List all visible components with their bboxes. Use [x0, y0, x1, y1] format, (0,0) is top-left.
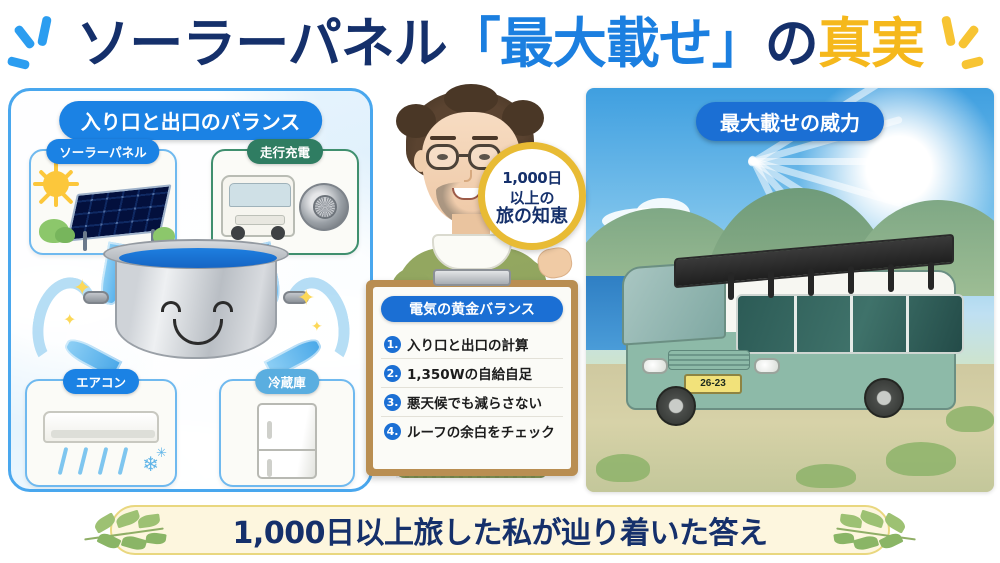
content-stage: 入り口と出口のバランス ソーラーパネル 走行充電	[0, 86, 1000, 498]
checklist-number: 3.	[384, 394, 401, 411]
card-solar-panel-label: ソーラーパネル	[46, 139, 159, 164]
page-title: ソーラーパネル「最大載せ」の真実	[76, 17, 923, 71]
clipboard-clamp-icon	[433, 269, 511, 286]
snowflake-icon: ✳	[156, 446, 167, 459]
checklist-number: 2.	[384, 365, 401, 382]
card-refrigerator[interactable]: 冷蔵庫	[219, 379, 355, 487]
title-bar: ソーラーパネル「最大載せ」の真実	[0, 0, 1000, 88]
checklist-item: 4. ルーフの余白をチェック	[381, 417, 563, 445]
card-driving-charge-label: 走行充電	[247, 139, 323, 164]
sparkle-icon: ✦	[63, 313, 76, 329]
title-segment-1: ソーラーパネル	[76, 12, 446, 75]
license-plate: 26-23	[684, 374, 742, 394]
right-panel-power: 最大載せの威力 26-23	[586, 88, 994, 492]
checklist-item: 3. 悪天候でも減らさない	[381, 388, 563, 417]
card-refrigerator-label: 冷蔵庫	[255, 369, 319, 394]
right-panel-heading: 最大載せの威力	[696, 102, 884, 141]
badge-line-3: 旅の知恵	[496, 207, 568, 227]
bottom-banner: 1,000日以上旅した私が辿り着いた答え	[0, 497, 1000, 563]
badge-days-number: 1,000	[502, 169, 547, 187]
presenter-illustration: 1,000日 以上の 旅の知恵 電気の黄金バランス 1. 入り口と出口の計算 2…	[352, 82, 602, 492]
spark-left-icon	[14, 10, 76, 80]
clipboard: 電気の黄金バランス 1. 入り口と出口の計算 2. 1,350Wの自給自足 3.…	[366, 280, 578, 476]
eyeglasses-icon	[426, 144, 459, 170]
clipboard-heading: 電気の黄金バランス	[381, 296, 563, 322]
olive-branch-icon	[78, 509, 174, 555]
sparkle-icon: ✦	[311, 319, 323, 333]
checklist-number: 4.	[384, 423, 401, 440]
spark-right-icon	[924, 10, 986, 80]
title-segment-3: の	[765, 12, 818, 75]
card-air-conditioner-label: エアコン	[63, 369, 139, 394]
sparkle-icon: ✦	[297, 287, 315, 309]
checklist-item: 1. 入り口と出口の計算	[381, 330, 563, 359]
left-panel-heading: 入り口と出口のバランス	[59, 101, 323, 140]
bottom-ribbon: 1,000日以上旅した私が辿り着いた答え	[110, 505, 890, 555]
olive-branch-icon	[826, 509, 922, 555]
title-segment-4: 真実	[818, 12, 924, 75]
left-panel-balance: 入り口と出口のバランス ソーラーパネル 走行充電	[8, 88, 373, 492]
badge-line-2: 以上の	[509, 190, 554, 207]
checklist-text: 悪天候でも減らさない	[407, 392, 542, 412]
experience-badge: 1,000日 以上の 旅の知恵	[478, 142, 586, 250]
microbus-with-solar-roof-icon: 26-23	[608, 228, 978, 456]
sparkle-icon: ✦	[73, 277, 91, 299]
checklist-text: ルーフの余白をチェック	[407, 421, 555, 441]
badge-days-unit: 日	[547, 169, 562, 187]
card-air-conditioner[interactable]: エアコン ❄ ✳	[25, 379, 177, 487]
bottom-banner-text: 1,000日以上旅した私が辿り着いた答え	[233, 508, 768, 552]
checklist-text: 入り口と出口の計算	[407, 334, 529, 354]
checklist-number: 1.	[384, 336, 401, 353]
checklist-item: 2. 1,350Wの自給自足	[381, 359, 563, 388]
title-segment-2: 「最大載せ」	[447, 12, 765, 75]
smiling-bucket-icon	[103, 239, 289, 381]
checklist-text: 1,350Wの自給自足	[407, 363, 532, 383]
